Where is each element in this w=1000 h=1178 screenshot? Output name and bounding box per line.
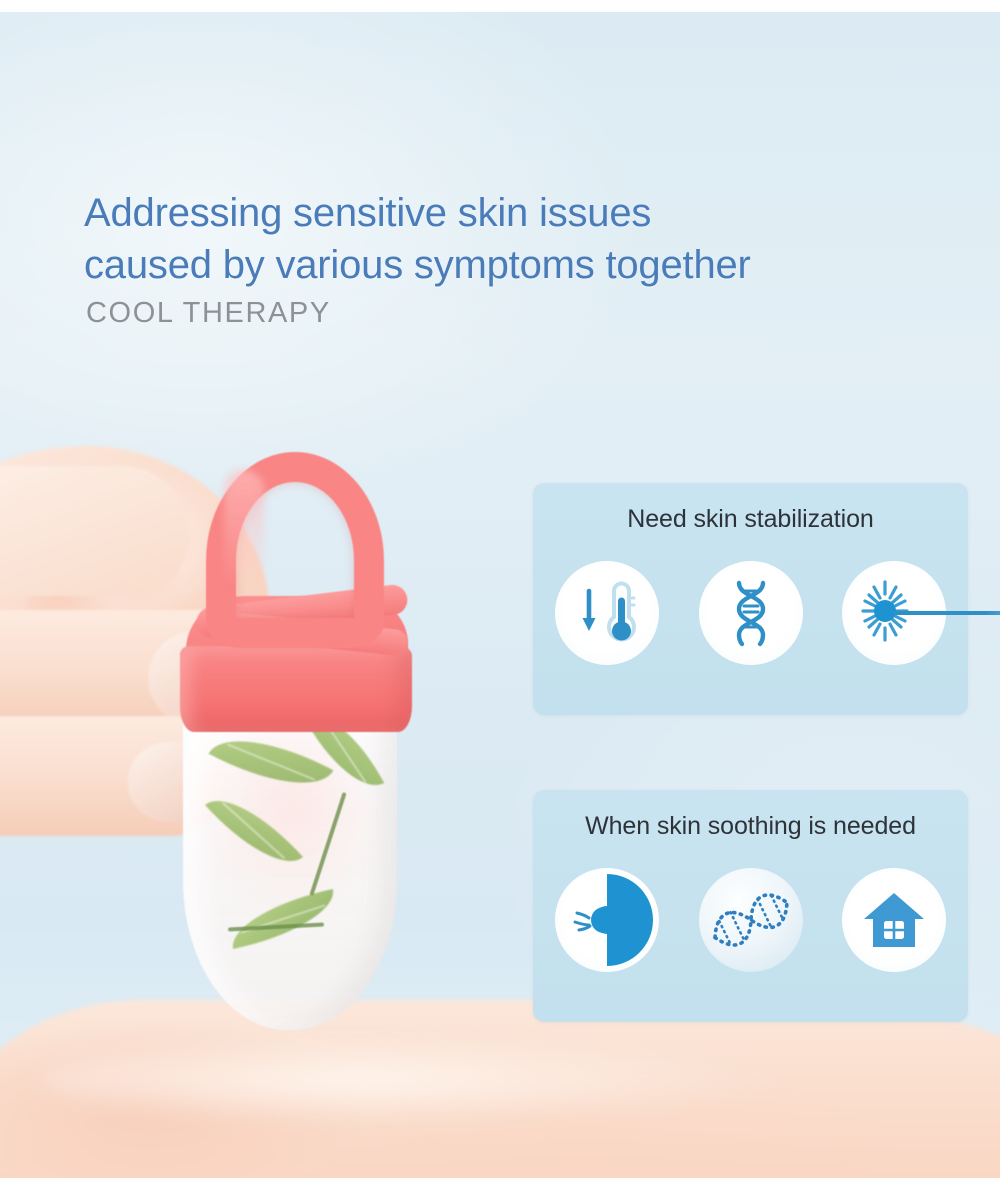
info-card-soothing: When skin soothing is needed xyxy=(533,790,968,1022)
cooling-spray-icon xyxy=(555,868,659,972)
product-cap-highlight xyxy=(224,470,264,590)
page-subtitle: COOL THERAPY xyxy=(86,297,331,330)
home-care-icon xyxy=(842,868,946,972)
forearm-highlight xyxy=(40,1035,800,1125)
headline-line-1: Addressing sensitive skin issues xyxy=(84,187,884,239)
product-marketing-image: Addressing sensitive skin issues caused … xyxy=(0,0,1000,1178)
dna-strand-icon xyxy=(699,868,803,972)
info-card-stabilization: Need skin stabilization xyxy=(533,483,968,715)
icon-row xyxy=(555,866,946,974)
laser-beam-icon xyxy=(842,561,946,665)
page-title: Addressing sensitive skin issues caused … xyxy=(84,187,884,292)
product-cap-band xyxy=(180,646,412,732)
card-title: Need skin stabilization xyxy=(533,505,968,534)
icon-row xyxy=(555,559,946,667)
thumb xyxy=(0,466,190,596)
dna-helix-icon xyxy=(699,561,803,665)
laser-beam-line xyxy=(894,611,1000,615)
card-title: When skin soothing is needed xyxy=(533,812,968,841)
headline-line-2: caused by various symptoms together xyxy=(84,239,884,291)
thermometer-cooling-icon xyxy=(555,561,659,665)
